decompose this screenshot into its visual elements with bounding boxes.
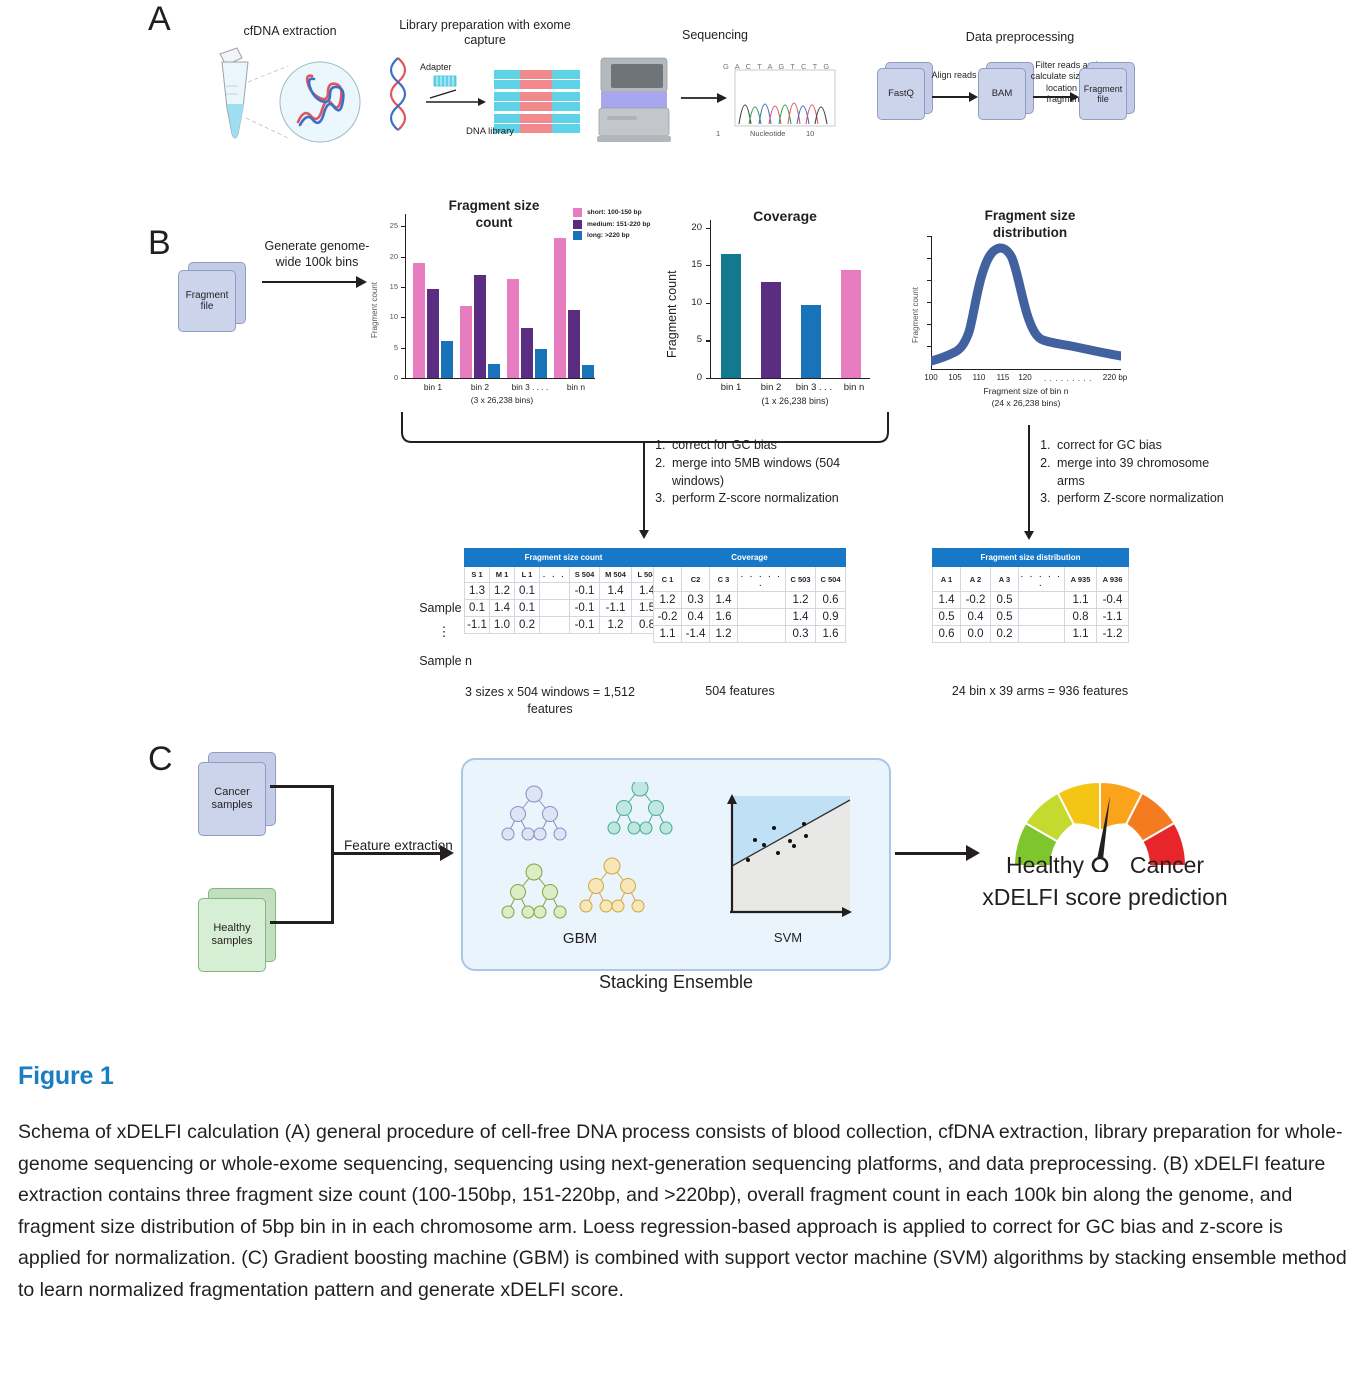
right-steps-arrow-head [1024, 531, 1034, 540]
library-preparation-illustration [382, 54, 592, 154]
fragment-size-distribution-curve [931, 236, 1121, 369]
chart3-xtick-dots: . . . . . . . . . [1033, 374, 1103, 383]
svm-plot [718, 790, 858, 930]
table3-group-header: Fragment size distribution [933, 549, 1129, 567]
table2-r2c4: 0.3 [786, 626, 816, 643]
table1-r1c0: 0.1 [465, 600, 490, 617]
bar-long-binn [582, 365, 594, 378]
fragment-file-label-a: Fragment file [1079, 68, 1127, 120]
chart1-ytick-15: 15 [376, 282, 398, 291]
chart1-ytick-0: 0 [376, 373, 398, 382]
table2-r1c0: -0.2 [654, 609, 682, 626]
table1-r1c5: -1.1 [600, 600, 632, 617]
chart2-xtick-bin1: bin 1 [713, 382, 749, 393]
chart3-ylabel: Fragment count [911, 233, 920, 343]
legend-item-medium: medium: 151-220 bp [573, 220, 650, 229]
table3-col-0: A 1 [933, 567, 961, 592]
chart1-xtick-bin1: bin 1 [410, 382, 456, 392]
table3-r0c2: 0.5 [991, 592, 1019, 609]
legend-label-long: long: >220 bp [587, 232, 630, 239]
table2-caption: 504 features [660, 684, 820, 699]
table3-r0c5: -0.4 [1097, 592, 1129, 609]
gbm-decision-trees [490, 782, 705, 942]
table1-r0c4: -0.1 [570, 583, 600, 600]
cancer-samples-card: Cancer samples [198, 752, 276, 836]
bar-medium-bin1 [427, 289, 439, 378]
generate-arrow-line [262, 281, 357, 283]
table2-r0c3 [738, 592, 786, 609]
table1-col-4: S 504 [570, 567, 600, 583]
healthy-samples-card: Healthy samples [198, 888, 276, 972]
chart3-xlabel2: (24 x 26,238 bins) [941, 398, 1111, 408]
table3-r0c0: 1.4 [933, 592, 961, 609]
panel-a-step-title-library: Library preparation with exome capture [390, 18, 580, 48]
table3-caption: 24 bin x 39 arms = 936 features [925, 684, 1155, 699]
chart1-title: Fragment size count [434, 198, 554, 232]
table2-r2c1: -1.4 [682, 626, 710, 643]
nucleotide-axis-end: 10 [806, 129, 814, 138]
left-steps-list: correct for GC bias merge into 5MB windo… [650, 437, 860, 508]
table2-r1c4: 1.4 [786, 609, 816, 626]
chart-coverage: Coverage Fragment count 0 5 10 15 20 bin… [665, 198, 885, 388]
legend-item-short: short: 100-150 bp [573, 208, 650, 217]
bar-coverage-bin1 [721, 254, 741, 378]
table-row: 0.1 1.4 0.1 -0.1 -1.1 1.5 [465, 600, 663, 617]
table3-r2c5: -1.2 [1097, 626, 1129, 643]
prediction-arrow-head [966, 845, 980, 861]
chart2-ytick-5: 5 [685, 334, 702, 345]
gauge-caption: xDELFI score prediction [975, 884, 1235, 912]
table1-group-header: Fragment size count [465, 549, 663, 567]
chart-fragment-size-distribution: Fragment size distribution Fragment coun… [905, 198, 1140, 398]
table2-r2c5: 1.6 [816, 626, 846, 643]
adapter-label: Adapter [420, 62, 452, 73]
left-steps-arrow-line [643, 442, 645, 532]
table2-col-4: C 503 [786, 567, 816, 592]
table1-r1c2: 0.1 [515, 600, 540, 617]
healthy-connector-h [270, 921, 334, 924]
bar-short-bin3 [507, 279, 519, 378]
table2-r2c0: 1.1 [654, 626, 682, 643]
chart3-xtick-220: 220 bp [1097, 373, 1133, 382]
right-steps-arrow-line [1028, 425, 1030, 533]
table2-r0c4: 1.2 [786, 592, 816, 609]
table3-r2c3 [1019, 626, 1065, 643]
left-steps-arrow-head [639, 530, 649, 539]
chart1-xtick-bin2: bin 2 [457, 382, 503, 392]
table2-r1c1: 0.4 [682, 609, 710, 626]
table-row: 1.2 0.3 1.4 1.2 0.6 [654, 592, 846, 609]
chart3-xtick-105: 105 [943, 373, 967, 382]
panel-c-letter: C [148, 742, 173, 776]
panel-a-step-title-cfdna: cfDNA extraction [190, 24, 390, 39]
chart3-xtick-100: 100 [919, 373, 943, 382]
right-step-3: perform Z-score normalization [1054, 490, 1225, 508]
bam-file-card: BAM [978, 62, 1034, 120]
table-row: -1.1 1.0 0.2 -0.1 1.2 0.8 [465, 617, 663, 634]
chart2-ytick-15: 15 [685, 259, 702, 270]
table1-caption: 3 sizes x 504 windows = 1,512 features [450, 684, 650, 718]
table2-r2c2: 1.2 [710, 626, 738, 643]
table1-r2c5: 1.2 [600, 617, 632, 634]
nucleotide-axis-start: 1 [716, 129, 720, 138]
table1-r2c2: 0.2 [515, 617, 540, 634]
table-fragment-size-count: Fragment size count S 1 M 1 L 1 . . . S … [464, 548, 663, 634]
sequence-bases-label: G A C T A G T C T G [723, 62, 831, 71]
cancer-connector-h [270, 785, 334, 788]
bar-medium-bin2 [474, 275, 486, 378]
gbm-label: GBM [530, 930, 630, 947]
table1-r0c2: 0.1 [515, 583, 540, 600]
table3-r1c0: 0.5 [933, 609, 961, 626]
panel-a-step-title-preprocessing: Data preprocessing [900, 30, 1140, 45]
bar-short-binn [554, 238, 566, 378]
table-row: 0.5 0.4 0.5 0.8 -1.1 [933, 609, 1129, 626]
table2-r1c2: 1.6 [710, 609, 738, 626]
table3-col-5: A 936 [1097, 567, 1129, 592]
table2-col-2: C 3 [710, 567, 738, 592]
table1-r2c1: 1.0 [490, 617, 515, 634]
table3-r1c4: 0.8 [1065, 609, 1097, 626]
legend-label-short: short: 100-150 bp [587, 209, 642, 216]
table1-r0c0: 1.3 [465, 583, 490, 600]
table3-r0c3 [1019, 592, 1065, 609]
table2-col-5: C 504 [816, 567, 846, 592]
legend-swatch-short [573, 208, 582, 217]
chart1-legend: short: 100-150 bp medium: 151-220 bp lon… [573, 208, 650, 243]
cancer-samples-label: Cancer samples [198, 762, 266, 836]
table2-col-1: C2 [682, 567, 710, 592]
fragment-file-card-a: Fragment file [1079, 62, 1135, 120]
legend-swatch-long [573, 231, 582, 240]
chart3-xlabel: Fragment size of bin n [941, 386, 1111, 396]
table-row-label-last: Sample n [386, 654, 472, 668]
bar-long-bin1 [441, 341, 453, 378]
table-fragment-size-distribution: Fragment size distribution A 1 A 2 A 3 .… [932, 548, 1129, 643]
prediction-arrow-line [895, 852, 967, 855]
right-steps-list: correct for GC bias merge into 39 chromo… [1035, 437, 1225, 508]
table-row: 1.4 -0.2 0.5 1.1 -0.4 [933, 592, 1129, 609]
legend-swatch-medium [573, 220, 582, 229]
table1-col-5: M 504 [600, 567, 632, 583]
table-coverage: Coverage C 1 C2 C 3 . . . . . . C 503 C … [653, 548, 846, 643]
table3-r0c1: -0.2 [961, 592, 991, 609]
panel-a-step-title-sequencing: Sequencing [640, 28, 790, 43]
stacking-ensemble-label: Stacking Ensemble [536, 972, 816, 993]
table1-r1c4: -0.1 [570, 600, 600, 617]
chart2-ytick-20: 20 [685, 222, 702, 233]
table2-col-0: C 1 [654, 567, 682, 592]
table2-r0c2: 1.4 [710, 592, 738, 609]
table1-r2c0: -1.1 [465, 617, 490, 634]
align-arrow-head [969, 92, 978, 102]
figure-caption-block: Figure 1 Schema of xDELFI calculation (A… [18, 1062, 1348, 1306]
fastq-file-card: FastQ [877, 62, 933, 120]
table-row: 0.6 0.0 0.2 1.1 -1.2 [933, 626, 1129, 643]
bar-long-bin2 [488, 364, 500, 378]
table3-r0c4: 1.1 [1065, 592, 1097, 609]
chart1-xtick-binn: bin n [556, 382, 596, 392]
fastq-file-label: FastQ [877, 68, 925, 120]
right-step-2: merge into 39 chromosome arms [1054, 455, 1225, 491]
bar-long-bin3 [535, 349, 547, 378]
chart2-xtick-bin3: bin 3 . . . [789, 382, 839, 393]
left-step-2: merge into 5MB windows (504 windows) [669, 455, 860, 491]
table3-col-2: A 3 [991, 567, 1019, 592]
dna-library-label: DNA library [440, 126, 540, 137]
chart2-xtick-bin2: bin 2 [753, 382, 789, 393]
table3-r2c2: 0.2 [991, 626, 1019, 643]
bar-medium-binn [568, 310, 580, 378]
gauge-cancer-label: Cancer [1112, 852, 1222, 880]
table3-col-dots: . . . . . . [1019, 567, 1065, 592]
table1-r2c4: -0.1 [570, 617, 600, 634]
table1-r1c3 [540, 600, 570, 617]
table2-col-dots: . . . . . . [738, 567, 786, 592]
fragment-file-label-b: Fragment file [178, 270, 236, 332]
chart1-ytick-25: 25 [376, 221, 398, 230]
right-step-1: correct for GC bias [1054, 437, 1225, 455]
generate-bins-label: Generate genome-wide 100k bins [254, 238, 380, 271]
chart2-xlabel: (1 x 26,238 bins) [725, 396, 865, 406]
chart2-ylabel: Fragment count [665, 228, 679, 358]
table1-r0c5: 1.4 [600, 583, 632, 600]
figure-image: A cfDNA extraction Library preparation w… [0, 0, 1360, 1040]
table-row: -0.2 0.4 1.6 1.4 0.9 [654, 609, 846, 626]
healthy-samples-label: Healthy samples [198, 898, 266, 972]
bam-file-label: BAM [978, 68, 1026, 120]
chart1-ytick-10: 10 [376, 312, 398, 321]
svm-label: SVM [738, 930, 838, 945]
table2-r0c1: 0.3 [682, 592, 710, 609]
left-step-3: perform Z-score normalization [669, 490, 860, 508]
table3-r2c4: 1.1 [1065, 626, 1097, 643]
chart3-xtick-115: 115 [991, 373, 1015, 382]
table3-r1c2: 0.5 [991, 609, 1019, 626]
panel-a-letter: A [148, 2, 171, 36]
table2-r0c5: 0.6 [816, 592, 846, 609]
align-reads-label: Align reads [931, 70, 977, 81]
table3-r1c1: 0.4 [961, 609, 991, 626]
cfdna-extraction-illustration [180, 46, 370, 156]
table3-r2c1: 0.0 [961, 626, 991, 643]
figure-caption-text: Schema of xDELFI calculation (A) general… [18, 1117, 1348, 1306]
chart1-ytick-5: 5 [376, 343, 398, 352]
align-arrow-line [932, 96, 970, 98]
bar-coverage-bin2 [761, 282, 781, 378]
chart2-title: Coverage [720, 208, 850, 226]
table3-r1c3 [1019, 609, 1065, 626]
chart1-xlabel: (3 x 26,238 bins) [432, 395, 572, 405]
table2-r0c0: 1.2 [654, 592, 682, 609]
gauge-healthy-label: Healthy [990, 852, 1100, 880]
table2-r1c5: 0.9 [816, 609, 846, 626]
table-row-vertical-dots: ⋮ [436, 628, 452, 636]
chart-fragment-size-count: Fragment size count Fragment count 0 5 1… [372, 198, 612, 388]
table1-col-dots: . . . [540, 567, 570, 583]
legend-item-long: long: >220 bp [573, 231, 650, 240]
table3-r1c5: -1.1 [1097, 609, 1129, 626]
chart2-ytick-10: 10 [685, 297, 702, 308]
filter-arrow-head [1070, 92, 1079, 102]
table-row: 1.1 -1.4 1.2 0.3 1.6 [654, 626, 846, 643]
chart1-xtick-bin3: bin 3 . . . . [502, 382, 558, 392]
panel-b-letter: B [148, 226, 171, 260]
nucleotide-axis-label: Nucleotide [750, 129, 785, 138]
table3-r2c0: 0.6 [933, 626, 961, 643]
chart1-ytick-20: 20 [376, 252, 398, 261]
chart2-xtick-binn: bin n [837, 382, 871, 393]
fragment-file-card-b: Fragment file [178, 262, 246, 332]
table-row: 1.3 1.2 0.1 -0.1 1.4 1.4 [465, 583, 663, 600]
table1-col-0: S 1 [465, 567, 490, 583]
chart3-xtick-110: 110 [967, 373, 991, 382]
table2-group-header: Coverage [654, 549, 846, 567]
generate-arrow-head [356, 276, 367, 288]
bar-short-bin1 [413, 263, 425, 378]
table2-r1c3 [738, 609, 786, 626]
bar-short-bin2 [460, 306, 472, 378]
table1-r0c3 [540, 583, 570, 600]
table-row-label-first: Sample 1 [388, 601, 472, 615]
table1-col-1: M 1 [490, 567, 515, 583]
table3-col-4: A 935 [1065, 567, 1097, 592]
table2-r2c3 [738, 626, 786, 643]
filter-arrow-line [1033, 96, 1071, 98]
legend-label-medium: medium: 151-220 bp [587, 221, 650, 228]
bar-coverage-binn [841, 270, 861, 378]
table1-r0c1: 1.2 [490, 583, 515, 600]
table3-col-1: A 2 [961, 567, 991, 592]
table1-col-2: L 1 [515, 567, 540, 583]
table1-r1c1: 1.4 [490, 600, 515, 617]
chart2-ytick-0: 0 [685, 372, 702, 383]
bar-medium-bin3 [521, 328, 533, 378]
left-step-1: correct for GC bias [669, 437, 860, 455]
figure-title: Figure 1 [18, 1062, 1348, 1091]
table1-r2c3 [540, 617, 570, 634]
bar-coverage-bin3 [801, 305, 821, 378]
